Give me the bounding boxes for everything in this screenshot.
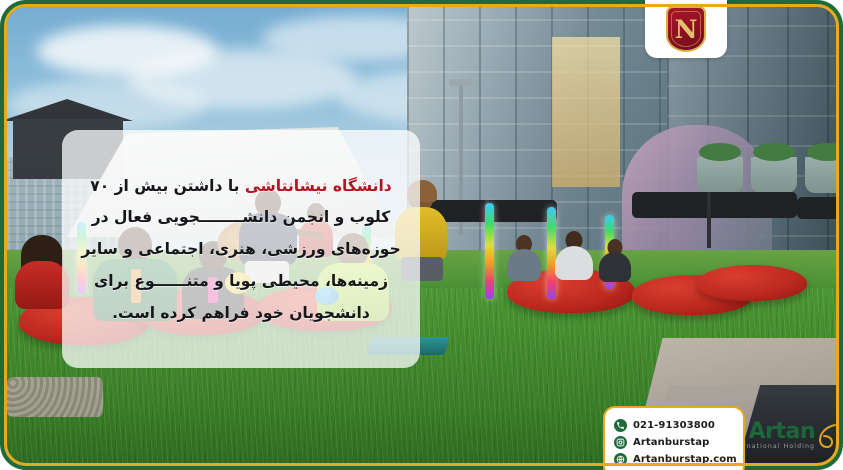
- building-window-glow: [552, 37, 620, 187]
- background-student: [507, 235, 541, 281]
- artan-brand-logo: Artan International Holding: [752, 414, 838, 458]
- shield-icon: N: [666, 6, 706, 52]
- lamp-head: [449, 79, 473, 86]
- instagram-handle: Artanburstap: [633, 437, 709, 448]
- curved-building-facade: [622, 125, 772, 255]
- headline-line1-rest: با داشتن بیش از ۷۰: [90, 177, 245, 195]
- planter: [697, 157, 743, 193]
- globe-icon: [614, 453, 627, 466]
- page-title: دانشگاه نیشانتاشی با داشتن بیش از ۷۰ کلو…: [80, 171, 402, 330]
- crest-letter: N: [675, 17, 698, 42]
- headline-line3: حوزه‌های ورزشی، هنری، اجتماعی و سایر: [81, 240, 400, 258]
- contact-row-phone[interactable]: 021-91303800: [614, 419, 734, 432]
- planter: [751, 157, 797, 193]
- university-crest-badge: N: [645, 0, 727, 58]
- headline-line4: زمینه‌ها، محیطی پویا و متنــــــوع برای: [94, 272, 388, 290]
- seated-student: [15, 239, 69, 305]
- instagram-icon: [614, 436, 627, 449]
- headline-line5: دانشجویان خود فراهم کرده است.: [112, 304, 370, 322]
- phone-icon: [614, 419, 627, 432]
- background-student: [599, 239, 631, 283]
- planter: [805, 157, 836, 193]
- patio-umbrella: [797, 197, 836, 219]
- headline-panel: دانشگاه نیشانتاشی با داشتن بیش از ۷۰ کلو…: [62, 130, 420, 368]
- phone-number: 021-91303800: [633, 420, 715, 431]
- background-student: [555, 231, 593, 281]
- umbrella-pole: [707, 192, 711, 248]
- contact-info-card: 021-91303800 Artanburstap Artanburstap.c…: [603, 406, 745, 470]
- bean-bag-cushion: [697, 265, 807, 301]
- website-url: Artanburstap.com: [633, 454, 737, 465]
- gravel-border: [7, 377, 103, 417]
- headline-highlight: دانشگاه نیشانتاشی: [245, 177, 392, 195]
- artan-swoosh-icon: [818, 423, 838, 449]
- contact-row-website[interactable]: Artanburstap.com: [614, 453, 734, 466]
- patio-umbrella: [632, 192, 797, 218]
- contact-row-instagram[interactable]: Artanburstap: [614, 436, 734, 449]
- promotional-poster: N دانشگاه نیشانتاشی با داشتن بیش از ۷۰ ک…: [0, 0, 843, 470]
- glow-stick: [485, 203, 494, 299]
- headline-line2: کلوب و انجمن دانشــــــــجویی فعال در: [92, 208, 391, 226]
